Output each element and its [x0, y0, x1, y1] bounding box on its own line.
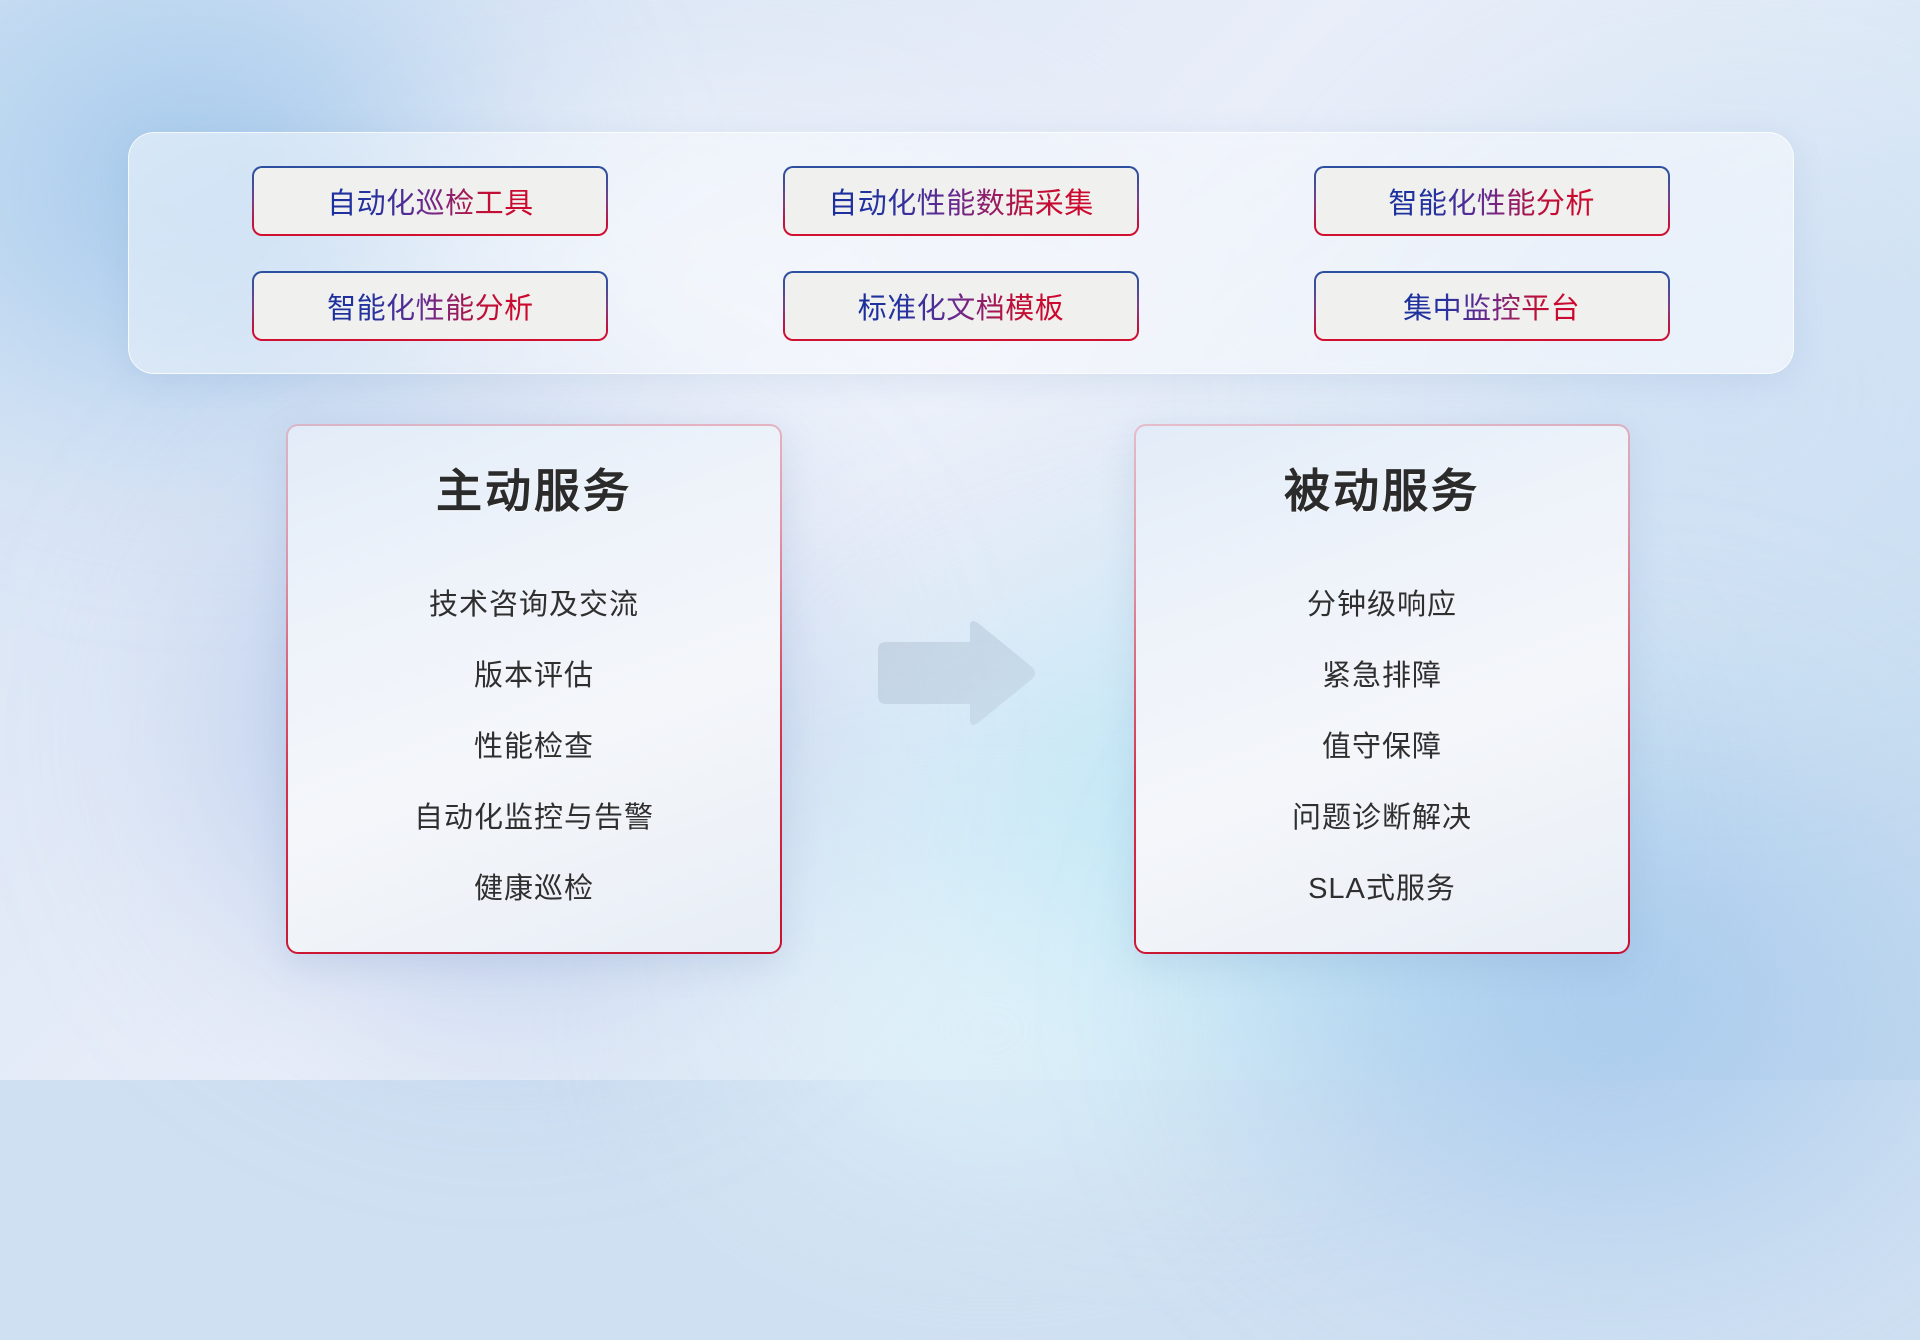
service-card-reactive[interactable]: 被动服务 分钟级响应 紧急排障 值守保障 问题诊断解决 SLA式服务 [1134, 424, 1630, 954]
pill-surface: 集中监控平台 [1316, 273, 1668, 339]
service-list-item: 健康巡检 [474, 854, 594, 925]
service-card-proactive[interactable]: 主动服务 技术咨询及交流 版本评估 性能检查 自动化监控与告警 健康巡检 [286, 424, 782, 954]
service-list-item: 技术咨询及交流 [429, 570, 639, 641]
pill-surface: 自动化巡检工具 [254, 168, 606, 234]
capability-pill-automated-performance-data-collection[interactable]: 自动化性能数据采集 [783, 166, 1139, 236]
capability-pill-label: 标准化文档模板 [858, 285, 1065, 327]
service-list-item: 值守保障 [1322, 712, 1442, 783]
service-list-item: SLA式服务 [1308, 854, 1456, 925]
capability-pill-grid: 自动化巡检工具 自动化性能数据采集 智能化性能分析 智能化性能分析 [129, 133, 1793, 373]
capability-pill-label: 集中监控平台 [1403, 285, 1580, 327]
capability-panel: 自动化巡检工具 自动化性能数据采集 智能化性能分析 智能化性能分析 [128, 132, 1794, 374]
capability-pill-centralized-monitoring-platform[interactable]: 集中监控平台 [1314, 271, 1670, 341]
service-card-title: 主动服务 [436, 466, 632, 518]
pill-surface: 标准化文档模板 [785, 273, 1137, 339]
service-list-item: 紧急排障 [1322, 641, 1442, 712]
service-list-item: 性能检查 [474, 712, 594, 783]
arrow-right-icon [874, 618, 1038, 728]
capability-pill-intelligent-performance-analysis-bottom[interactable]: 智能化性能分析 [252, 271, 608, 341]
diagram-stage: 自动化巡检工具 自动化性能数据采集 智能化性能分析 智能化性能分析 [0, 0, 1920, 1080]
capability-pill-label: 自动化巡检工具 [327, 180, 534, 222]
service-list-item: 版本评估 [474, 641, 594, 712]
pill-surface: 智能化性能分析 [1316, 168, 1668, 234]
capability-pill-automated-inspection-tool[interactable]: 自动化巡检工具 [252, 166, 608, 236]
service-card-item-list: 技术咨询及交流 版本评估 性能检查 自动化监控与告警 健康巡检 [316, 570, 752, 925]
service-list-item: 问题诊断解决 [1292, 783, 1472, 854]
service-card-surface: 被动服务 分钟级响应 紧急排障 值守保障 问题诊断解决 SLA式服务 [1136, 426, 1628, 952]
capability-pill-label: 自动化性能数据采集 [828, 180, 1094, 222]
pill-surface: 自动化性能数据采集 [785, 168, 1137, 234]
service-card-title: 被动服务 [1284, 466, 1480, 518]
capability-pill-standardized-doc-template[interactable]: 标准化文档模板 [783, 271, 1139, 341]
service-card-item-list: 分钟级响应 紧急排障 值守保障 问题诊断解决 SLA式服务 [1164, 570, 1600, 925]
service-list-item: 自动化监控与告警 [414, 783, 654, 854]
pill-surface: 智能化性能分析 [254, 273, 606, 339]
service-list-item: 分钟级响应 [1307, 570, 1457, 641]
service-card-surface: 主动服务 技术咨询及交流 版本评估 性能检查 自动化监控与告警 健康巡检 [288, 426, 780, 952]
capability-pill-label: 智能化性能分析 [1388, 180, 1595, 222]
capability-pill-intelligent-performance-analysis-top[interactable]: 智能化性能分析 [1314, 166, 1670, 236]
capability-pill-label: 智能化性能分析 [327, 285, 534, 327]
